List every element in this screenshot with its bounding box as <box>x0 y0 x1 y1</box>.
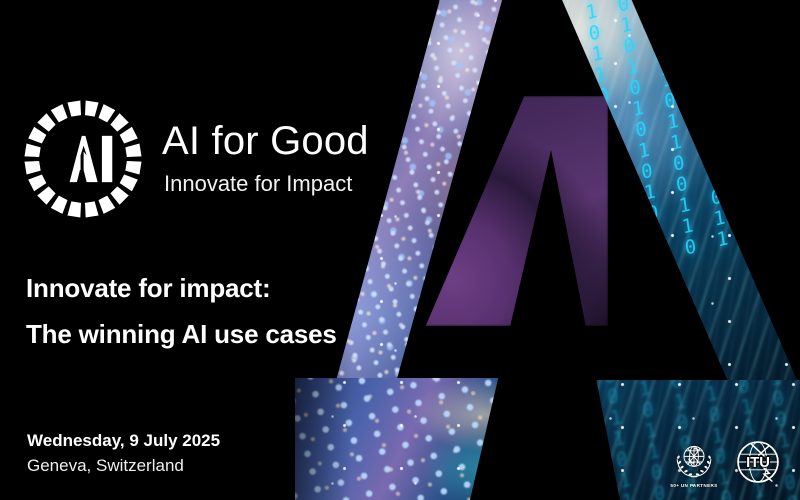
un-partners-caption: 50+ UN PARTNERS <box>670 483 717 488</box>
headline-block: Innovate for impact: The winning AI use … <box>26 275 376 347</box>
brand-text-block: AI for Good Innovate for Impact <box>162 121 369 198</box>
logo-ring-segment <box>98 196 115 214</box>
event-date: Wednesday, 9 July 2025 <box>27 430 220 451</box>
banner-content: AI for Good Innovate for Impact Innovate… <box>0 0 800 500</box>
united-nations-emblem-icon <box>670 438 718 482</box>
logo-ring-segment <box>125 143 141 157</box>
logo-ring-segment <box>28 174 46 191</box>
headline-line-1: Innovate for impact: <box>26 275 376 301</box>
logo-ring-segment <box>110 113 128 131</box>
logo-ring-segment <box>28 127 46 144</box>
logo-ring-segment <box>51 104 68 122</box>
logo-ring-segment <box>120 127 138 144</box>
logo-ring-segment <box>25 161 41 175</box>
un-partner-logo: 50+ UN PARTNERS <box>670 438 718 488</box>
event-banner: 1 0 1 0 0 1 1 0 0 1 0 1 1 0 1 0 0 1 1 0 … <box>0 0 800 500</box>
ai-for-good-circular-logo-icon <box>22 98 144 220</box>
brand-tagline: Innovate for Impact <box>164 171 369 197</box>
svg-text:ITU: ITU <box>746 455 770 471</box>
logo-ring-segment <box>85 201 99 217</box>
itu-logo-icon: ITU <box>732 436 784 488</box>
headline-line-2: The winning AI use cases <box>26 321 376 347</box>
brand-lockup: AI for Good Innovate for Impact <box>22 98 369 220</box>
logo-ring-segment <box>51 196 68 214</box>
logo-ring-segment <box>98 104 115 122</box>
logo-ring-segment <box>67 101 81 117</box>
logo-ring-segment <box>85 101 99 117</box>
logo-ring-segment <box>110 186 128 204</box>
event-location: Geneva, Switzerland <box>27 455 220 476</box>
logo-ring-segment <box>25 143 41 157</box>
logo-ring-segment <box>37 186 55 204</box>
logo-ring-segment <box>120 174 138 191</box>
logo-ring-segment <box>67 201 81 217</box>
itu-partner-logo: ITU <box>732 436 784 488</box>
brand-name: AI for Good <box>162 121 369 163</box>
logo-ring-segment <box>37 113 55 131</box>
partner-logos: 50+ UN PARTNERS <box>670 436 784 488</box>
event-details-block: Wednesday, 9 July 2025 Geneva, Switzerla… <box>27 430 220 477</box>
logo-ring-segment <box>125 161 141 175</box>
